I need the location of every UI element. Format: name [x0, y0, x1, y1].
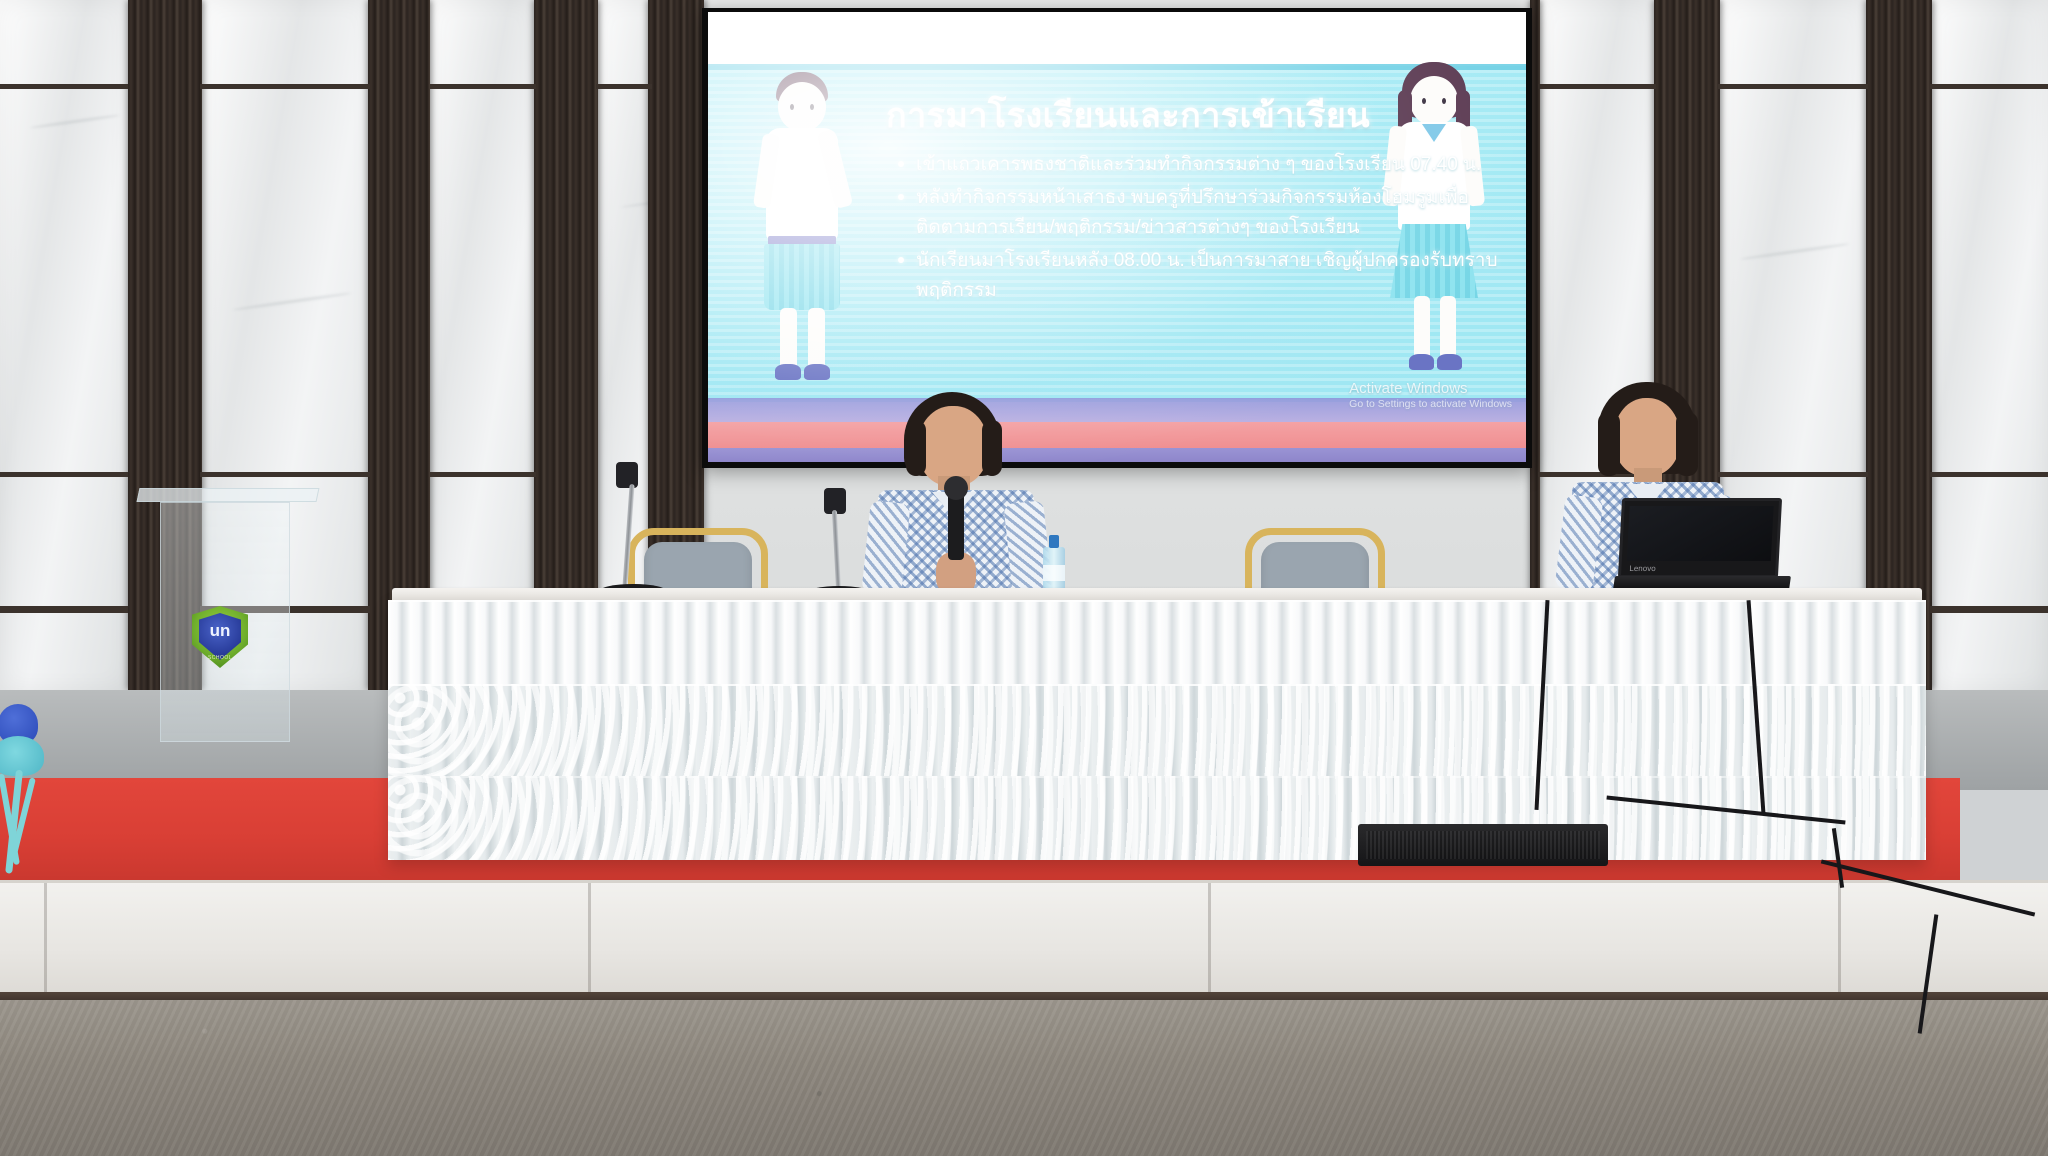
emblem-monogram: un	[192, 622, 248, 639]
slide-title: การมาโรงเรียนและการเข้าเรียน	[886, 88, 1506, 142]
bottle-cap	[1049, 535, 1059, 548]
slide-top-margin	[708, 12, 1526, 66]
slide-floor-pink	[708, 422, 1526, 450]
slide-bullet-2: หลังทำกิจกรรมหน้าเสาธง พบครูที่ปรึกษาร่ว…	[894, 183, 1514, 243]
slide-bullet-list: เข้าแถวเคารพธงชาติและร่วมทำกิจกรรมต่าง ๆ…	[894, 150, 1514, 309]
speaker-center-head	[918, 406, 988, 486]
floor-monitor-speaker	[1358, 824, 1608, 866]
slide-bullet-3: นักเรียนมาโรงเรียนหลัง 08.00 น. เป็นการม…	[894, 246, 1514, 306]
table-lace-skirt	[388, 600, 1926, 860]
watermark-title: Activate Windows	[1349, 380, 1512, 397]
watermark-subtitle: Go to Settings to activate Windows	[1349, 398, 1512, 410]
projection-screen: การมาโรงเรียนและการเข้าเรียน เข้าแถวเคาร…	[708, 12, 1526, 462]
decorative-flower-arrangement	[0, 700, 110, 890]
windows-activation-watermark: Activate Windows Go to Settings to activ…	[1349, 380, 1512, 410]
microphone-stand-left	[600, 462, 670, 597]
bottle-label	[1043, 565, 1065, 581]
laptop-lid: Lenovo	[1618, 498, 1782, 578]
acrylic-podium: un SCHOOL	[138, 488, 318, 756]
slide-floor-base	[708, 448, 1526, 462]
slide-bullet-1: เข้าแถวเคารพธงชาติและร่วมทำกิจกรรมต่าง ๆ…	[894, 150, 1514, 180]
powerpoint-slide: การมาโรงเรียนและการเข้าเรียน เข้าแถวเคาร…	[708, 12, 1526, 462]
laptop-screen	[1627, 506, 1774, 561]
slide-illustration-boy	[744, 68, 864, 398]
stage-granite-base	[0, 1000, 2048, 1156]
speaker-right-head	[1614, 398, 1680, 476]
person-speaker-center	[862, 392, 1062, 602]
stage-front-face	[0, 880, 2048, 1000]
laptop-brand-label: Lenovo	[1629, 564, 1656, 573]
conference-room-photo: การมาโรงเรียนและการเข้าเรียน เข้าแถวเคาร…	[0, 0, 2048, 1156]
school-emblem: un SCHOOL	[192, 606, 248, 668]
emblem-subtitle: SCHOOL	[192, 655, 248, 661]
laptop[interactable]: Lenovo	[1620, 498, 1785, 596]
podium-top-surface	[137, 488, 320, 502]
